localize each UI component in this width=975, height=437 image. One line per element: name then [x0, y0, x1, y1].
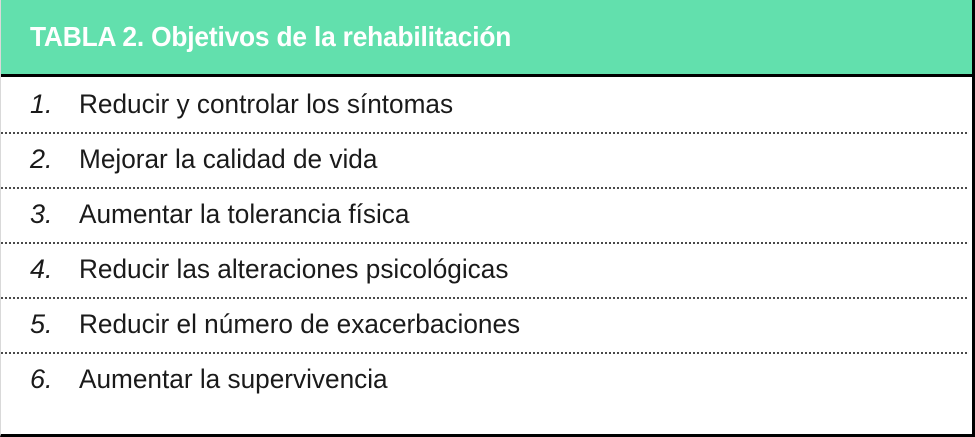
table-row: 3. Aumentar la tolerancia física: [1, 187, 972, 242]
row-number: 4.: [30, 256, 79, 283]
table-row: 1. Reducir y controlar los síntomas: [1, 77, 972, 132]
table-row: 5. Reducir el número de exacerbaciones: [1, 297, 972, 352]
table-row: 4. Reducir las alteraciones psicológicas: [1, 242, 972, 297]
row-text: Reducir las alteraciones psicológicas: [79, 256, 916, 283]
table-row: 2. Mejorar la calidad de vida: [1, 132, 972, 187]
table-figure: TABLA 2. Objetivos de la rehabilitación …: [0, 0, 975, 437]
table-title: TABLA 2. Objetivos de la rehabilitación: [30, 21, 511, 53]
row-number: 1.: [30, 91, 79, 118]
row-text: Mejorar la calidad de vida: [79, 146, 916, 173]
row-text: Aumentar la supervivencia: [79, 366, 916, 393]
row-text: Aumentar la tolerancia física: [79, 201, 916, 228]
table-row: 6. Aumentar la supervivencia: [1, 352, 972, 407]
row-text: Reducir el número de exacerbaciones: [79, 311, 916, 338]
row-text: Reducir y controlar los síntomas: [79, 91, 916, 118]
row-number: 3.: [30, 201, 79, 228]
table-header: TABLA 2. Objetivos de la rehabilitación: [1, 0, 972, 77]
row-number: 6.: [30, 366, 79, 393]
row-number: 2.: [30, 146, 79, 173]
table-body: 1. Reducir y controlar los síntomas 2. M…: [1, 77, 972, 407]
row-number: 5.: [30, 311, 79, 338]
